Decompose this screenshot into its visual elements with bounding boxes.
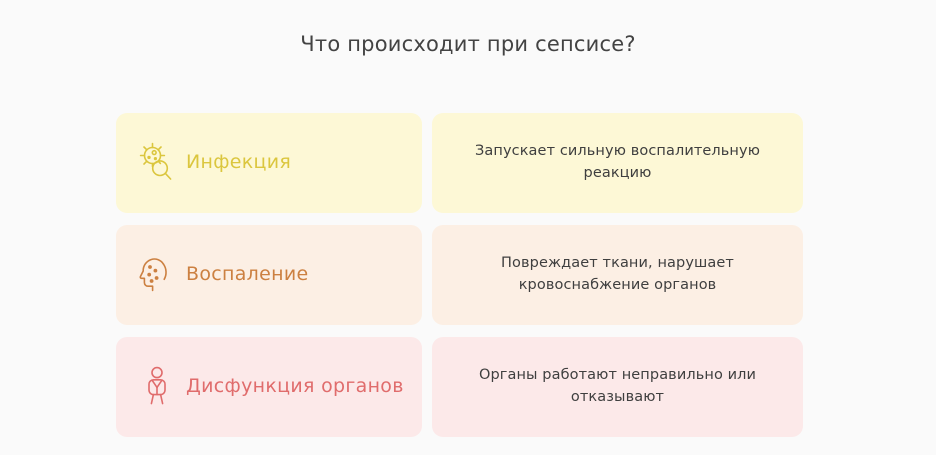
sepsis-infographic: Что происходит при сепсисе? — [0, 0, 936, 455]
stage-row-infection: Инфекция Запускает сильную воспалительну… — [116, 113, 803, 213]
stage-label-card-dysfunction[interactable]: Дисфункция органов — [116, 337, 422, 437]
stage-description-card-inflammation[interactable]: Повреждает ткани, нарушает кровоснабжени… — [432, 225, 803, 325]
stage-list: Инфекция Запускает сильную воспалительну… — [116, 113, 803, 437]
head-inflammation-icon — [136, 253, 178, 297]
stage-row-dysfunction: Дисфункция органов Органы работают непра… — [116, 337, 803, 437]
stage-description-card-infection[interactable]: Запускает сильную воспалительную реакцию — [432, 113, 803, 213]
stage-description-card-dysfunction[interactable]: Органы работают неправильно или отказыва… — [432, 337, 803, 437]
stage-description-text: Запускает сильную воспалительную реакцию — [462, 141, 773, 185]
stage-label-text: Воспаление — [186, 264, 308, 286]
virus-magnifier-icon — [136, 141, 178, 185]
stage-description-text: Повреждает ткани, нарушает кровоснабжени… — [462, 253, 773, 297]
stage-label-text: Инфекция — [186, 152, 291, 174]
stage-row-inflammation: Воспаление Повреждает ткани, нарушает кр… — [116, 225, 803, 325]
stage-label-card-inflammation[interactable]: Воспаление — [116, 225, 422, 325]
page-title: Что происходит при сепсисе? — [0, 32, 936, 56]
stage-description-text: Органы работают неправильно или отказыва… — [462, 365, 773, 409]
human-body-organs-icon — [136, 365, 178, 409]
stage-label-text: Дисфункция органов — [186, 376, 404, 398]
stage-label-card-infection[interactable]: Инфекция — [116, 113, 422, 213]
